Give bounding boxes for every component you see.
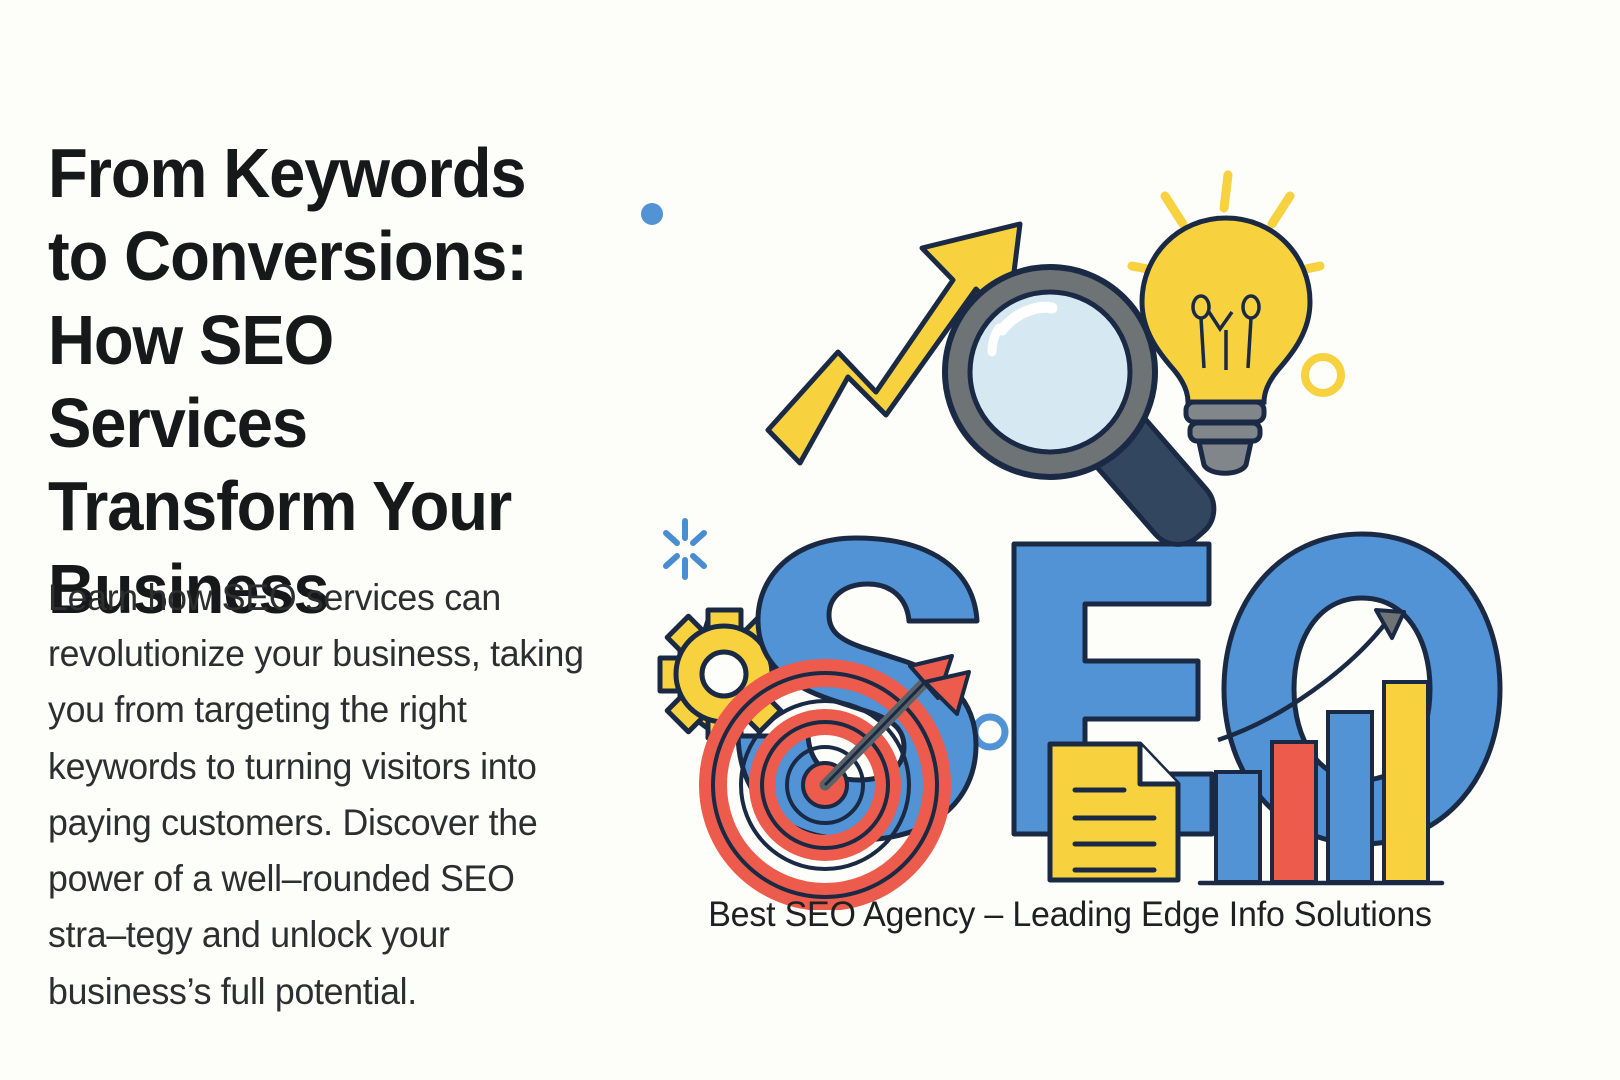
poster-canvas: From Keywords to Conversions: How SEO Se… <box>0 0 1620 1080</box>
ring-circle-blue <box>975 717 1005 747</box>
bar-2 <box>1272 742 1316 882</box>
page-title: From Keywords to Conversions: How SEO Se… <box>48 132 606 632</box>
text-column: From Keywords to Conversions: How SEO Se… <box>48 132 648 632</box>
dot-blue <box>641 203 663 225</box>
sparkle-icon <box>666 521 704 577</box>
lightbulb-icon <box>1132 175 1320 473</box>
illustration-caption: Best SEO Agency – Leading Edge Info Solu… <box>634 895 1507 935</box>
bar-4 <box>1384 682 1428 882</box>
bar-1 <box>1216 772 1260 882</box>
seo-illustration <box>620 120 1520 910</box>
bar-3 <box>1328 712 1372 882</box>
ring-circle-yellow <box>1305 357 1341 393</box>
document-icon <box>1050 744 1178 880</box>
article-summary: Learn how SEO services can revolutionize… <box>48 570 588 1020</box>
